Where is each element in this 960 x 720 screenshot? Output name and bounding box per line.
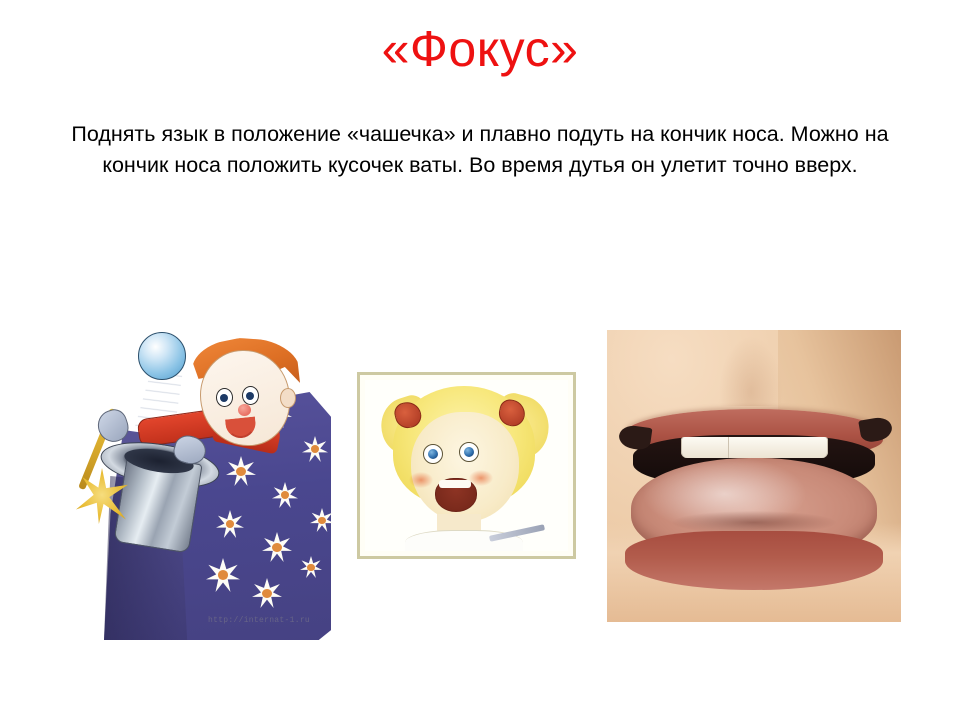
boy-eye-right <box>242 386 259 405</box>
boy-ear <box>280 388 296 408</box>
girl-eye-left <box>423 444 443 464</box>
girl-drawing-canvas <box>365 380 568 551</box>
boy-eye-left <box>216 388 233 407</box>
mouth-photo <box>607 330 901 622</box>
illustration-row: http://internat-1.ru <box>0 0 960 720</box>
girl-cheek-left <box>409 472 433 488</box>
lower-lip <box>625 531 884 589</box>
girl-drawing <box>357 372 576 559</box>
instruction-text: Поднять язык в положение «чашечка» и пла… <box>52 119 908 180</box>
image-watermark: http://internat-1.ru <box>208 616 310 625</box>
girl-eye-right <box>459 442 479 462</box>
page-title: «Фокус» <box>0 22 960 77</box>
boy-nose <box>238 404 251 416</box>
magician-illustration: http://internat-1.ru <box>66 326 336 642</box>
crystal-ball-icon <box>138 332 186 380</box>
girl-teeth <box>439 480 471 488</box>
philtrum <box>719 336 784 406</box>
upper-teeth <box>681 437 828 459</box>
